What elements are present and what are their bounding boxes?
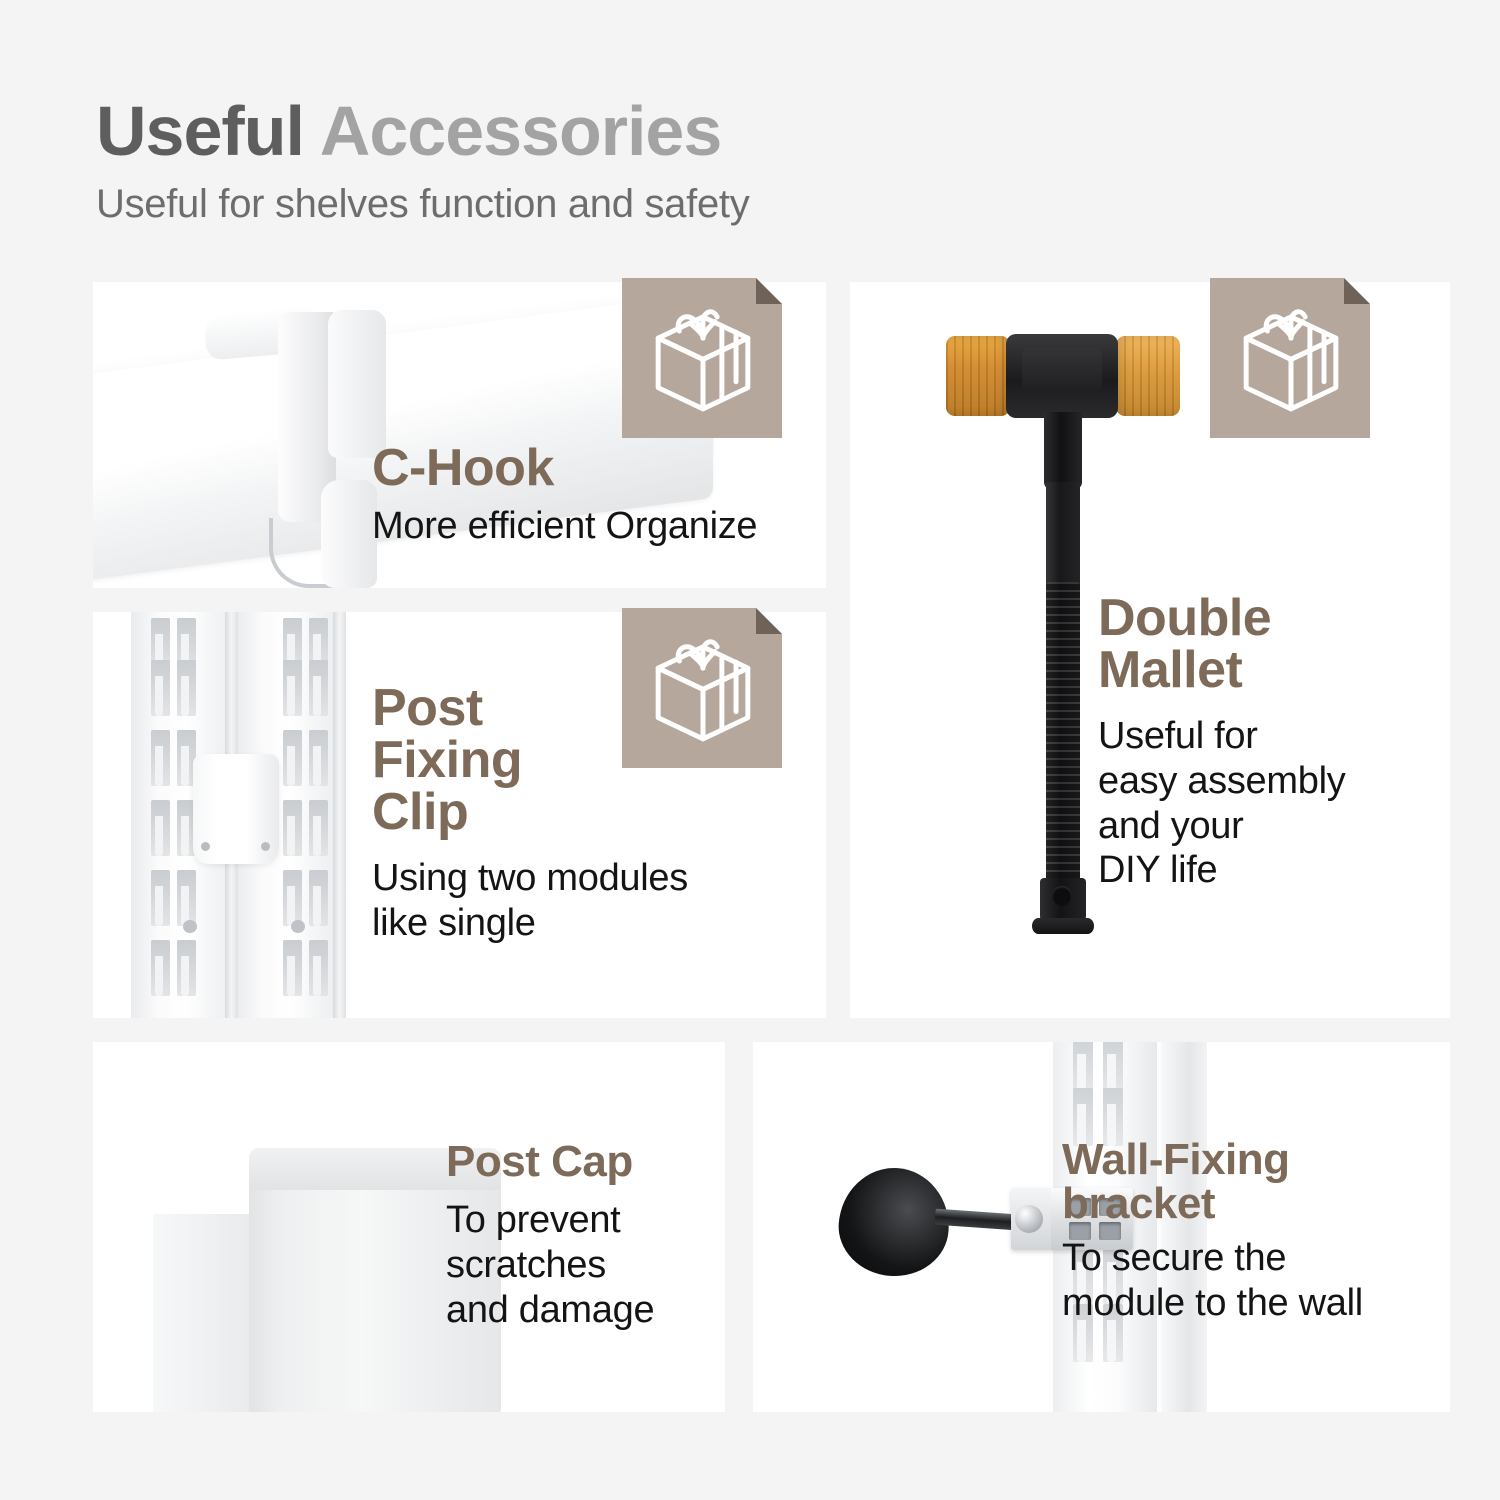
post-slot bbox=[309, 660, 328, 716]
post-slot bbox=[309, 730, 328, 786]
adjacent-post bbox=[153, 1214, 253, 1412]
description-line: easy assembly bbox=[1098, 759, 1345, 804]
mallet-face-ridges bbox=[946, 336, 1010, 416]
post-slot bbox=[151, 800, 170, 856]
wall-fixing-bracket-heading: Wall-Fixing bracket bbox=[1062, 1138, 1363, 1226]
post-rivet bbox=[291, 920, 305, 933]
mallet-neck bbox=[1044, 412, 1082, 490]
post-slot bbox=[151, 660, 170, 716]
post-cap-heading: Post Cap bbox=[446, 1140, 654, 1184]
heading-line: Mallet bbox=[1098, 644, 1345, 696]
mallet-face-ridges bbox=[1116, 336, 1180, 416]
description-line: module to the wall bbox=[1062, 1281, 1363, 1326]
post-slot bbox=[283, 870, 302, 926]
post-slot bbox=[177, 870, 196, 926]
mallet-handle-grip bbox=[1046, 582, 1080, 882]
description-line: and your bbox=[1098, 804, 1345, 849]
page-title-part-2: Accessories bbox=[320, 92, 722, 170]
description-line: like single bbox=[372, 901, 688, 946]
gift-box-icon bbox=[1232, 298, 1350, 416]
post-slot bbox=[309, 940, 328, 996]
heading-line: bracket bbox=[1062, 1182, 1363, 1226]
post-fixing-clip-part bbox=[193, 754, 279, 864]
mallet-face-left bbox=[946, 336, 1010, 416]
header: Useful Accessories Useful for shelves fu… bbox=[96, 96, 1096, 227]
post-slot bbox=[309, 800, 328, 856]
page-title: Useful Accessories bbox=[96, 96, 1096, 166]
heading-line: Wall-Fixing bbox=[1062, 1138, 1363, 1182]
clip-hole bbox=[201, 842, 210, 851]
gift-box-badge bbox=[622, 278, 782, 438]
page-title-part-1: Useful bbox=[96, 92, 320, 170]
post-cap-text-block: Post Cap To prevent scratches and damage bbox=[446, 1140, 654, 1332]
post-slot bbox=[177, 940, 196, 996]
mallet-end-cap bbox=[1032, 918, 1094, 934]
wall-fixing-bracket-text-block: Wall-Fixing bracket To secure the module… bbox=[1062, 1138, 1363, 1326]
clip-hole bbox=[261, 842, 270, 851]
post-cap-description: To prevent scratches and damage bbox=[446, 1198, 654, 1332]
post-rivet bbox=[183, 920, 197, 933]
post-slot bbox=[151, 870, 170, 926]
heading-line: Post bbox=[372, 682, 688, 734]
description-line: Using two modules bbox=[372, 856, 688, 901]
c-hook-heading: C-Hook bbox=[372, 442, 757, 494]
post-seam-right bbox=[333, 612, 346, 1018]
post-fixing-clip-text-block: Post Fixing Clip Using two modules like … bbox=[372, 682, 688, 946]
description-line: and damage bbox=[446, 1288, 654, 1333]
page-subtitle: Useful for shelves function and safety bbox=[96, 182, 1096, 227]
description-line: scratches bbox=[446, 1243, 654, 1288]
description-line: DIY life bbox=[1098, 848, 1345, 893]
description-line: To prevent bbox=[446, 1198, 654, 1243]
post-fixing-clip-photo bbox=[131, 612, 391, 1018]
double-mallet-description: Useful for easy assembly and your DIY li… bbox=[1098, 714, 1345, 893]
heading-line: Fixing bbox=[372, 734, 688, 786]
c-hook-text-block: C-Hook More efficient Organize bbox=[372, 442, 757, 549]
post-slot bbox=[283, 730, 302, 786]
gift-box-icon bbox=[644, 298, 762, 416]
description-line: To secure the bbox=[1062, 1236, 1363, 1281]
heading-line: Double bbox=[1098, 592, 1345, 644]
description-line: Useful for bbox=[1098, 714, 1345, 759]
mallet-hang-hole bbox=[1052, 886, 1072, 906]
mallet-head-plate bbox=[1022, 348, 1102, 390]
wall-fixing-bracket-description: To secure the module to the wall bbox=[1062, 1236, 1363, 1326]
post-slot bbox=[283, 660, 302, 716]
post-cap-photo bbox=[153, 1042, 493, 1412]
post-slot bbox=[309, 870, 328, 926]
bracket-screw bbox=[1015, 1205, 1043, 1233]
post-slot bbox=[151, 730, 170, 786]
post-slot bbox=[151, 940, 170, 996]
double-mallet-text-block: Double Mallet Useful for easy assembly a… bbox=[1098, 592, 1345, 893]
c-hook-front-tab bbox=[328, 310, 386, 458]
infographic-page: Useful Accessories Useful for shelves fu… bbox=[0, 0, 1500, 1500]
post-slot bbox=[283, 940, 302, 996]
heading-line: Clip bbox=[372, 786, 688, 838]
c-hook-lower-tab bbox=[321, 480, 377, 588]
post-slot bbox=[283, 800, 302, 856]
post-slot bbox=[177, 660, 196, 716]
gift-box-badge bbox=[1210, 278, 1370, 438]
mallet-face-right bbox=[1116, 336, 1180, 416]
post-fixing-clip-heading: Post Fixing Clip bbox=[372, 682, 688, 838]
double-mallet-heading: Double Mallet bbox=[1098, 592, 1345, 696]
c-hook-description: More efficient Organize bbox=[372, 504, 757, 549]
post-fixing-clip-description: Using two modules like single bbox=[372, 856, 688, 946]
